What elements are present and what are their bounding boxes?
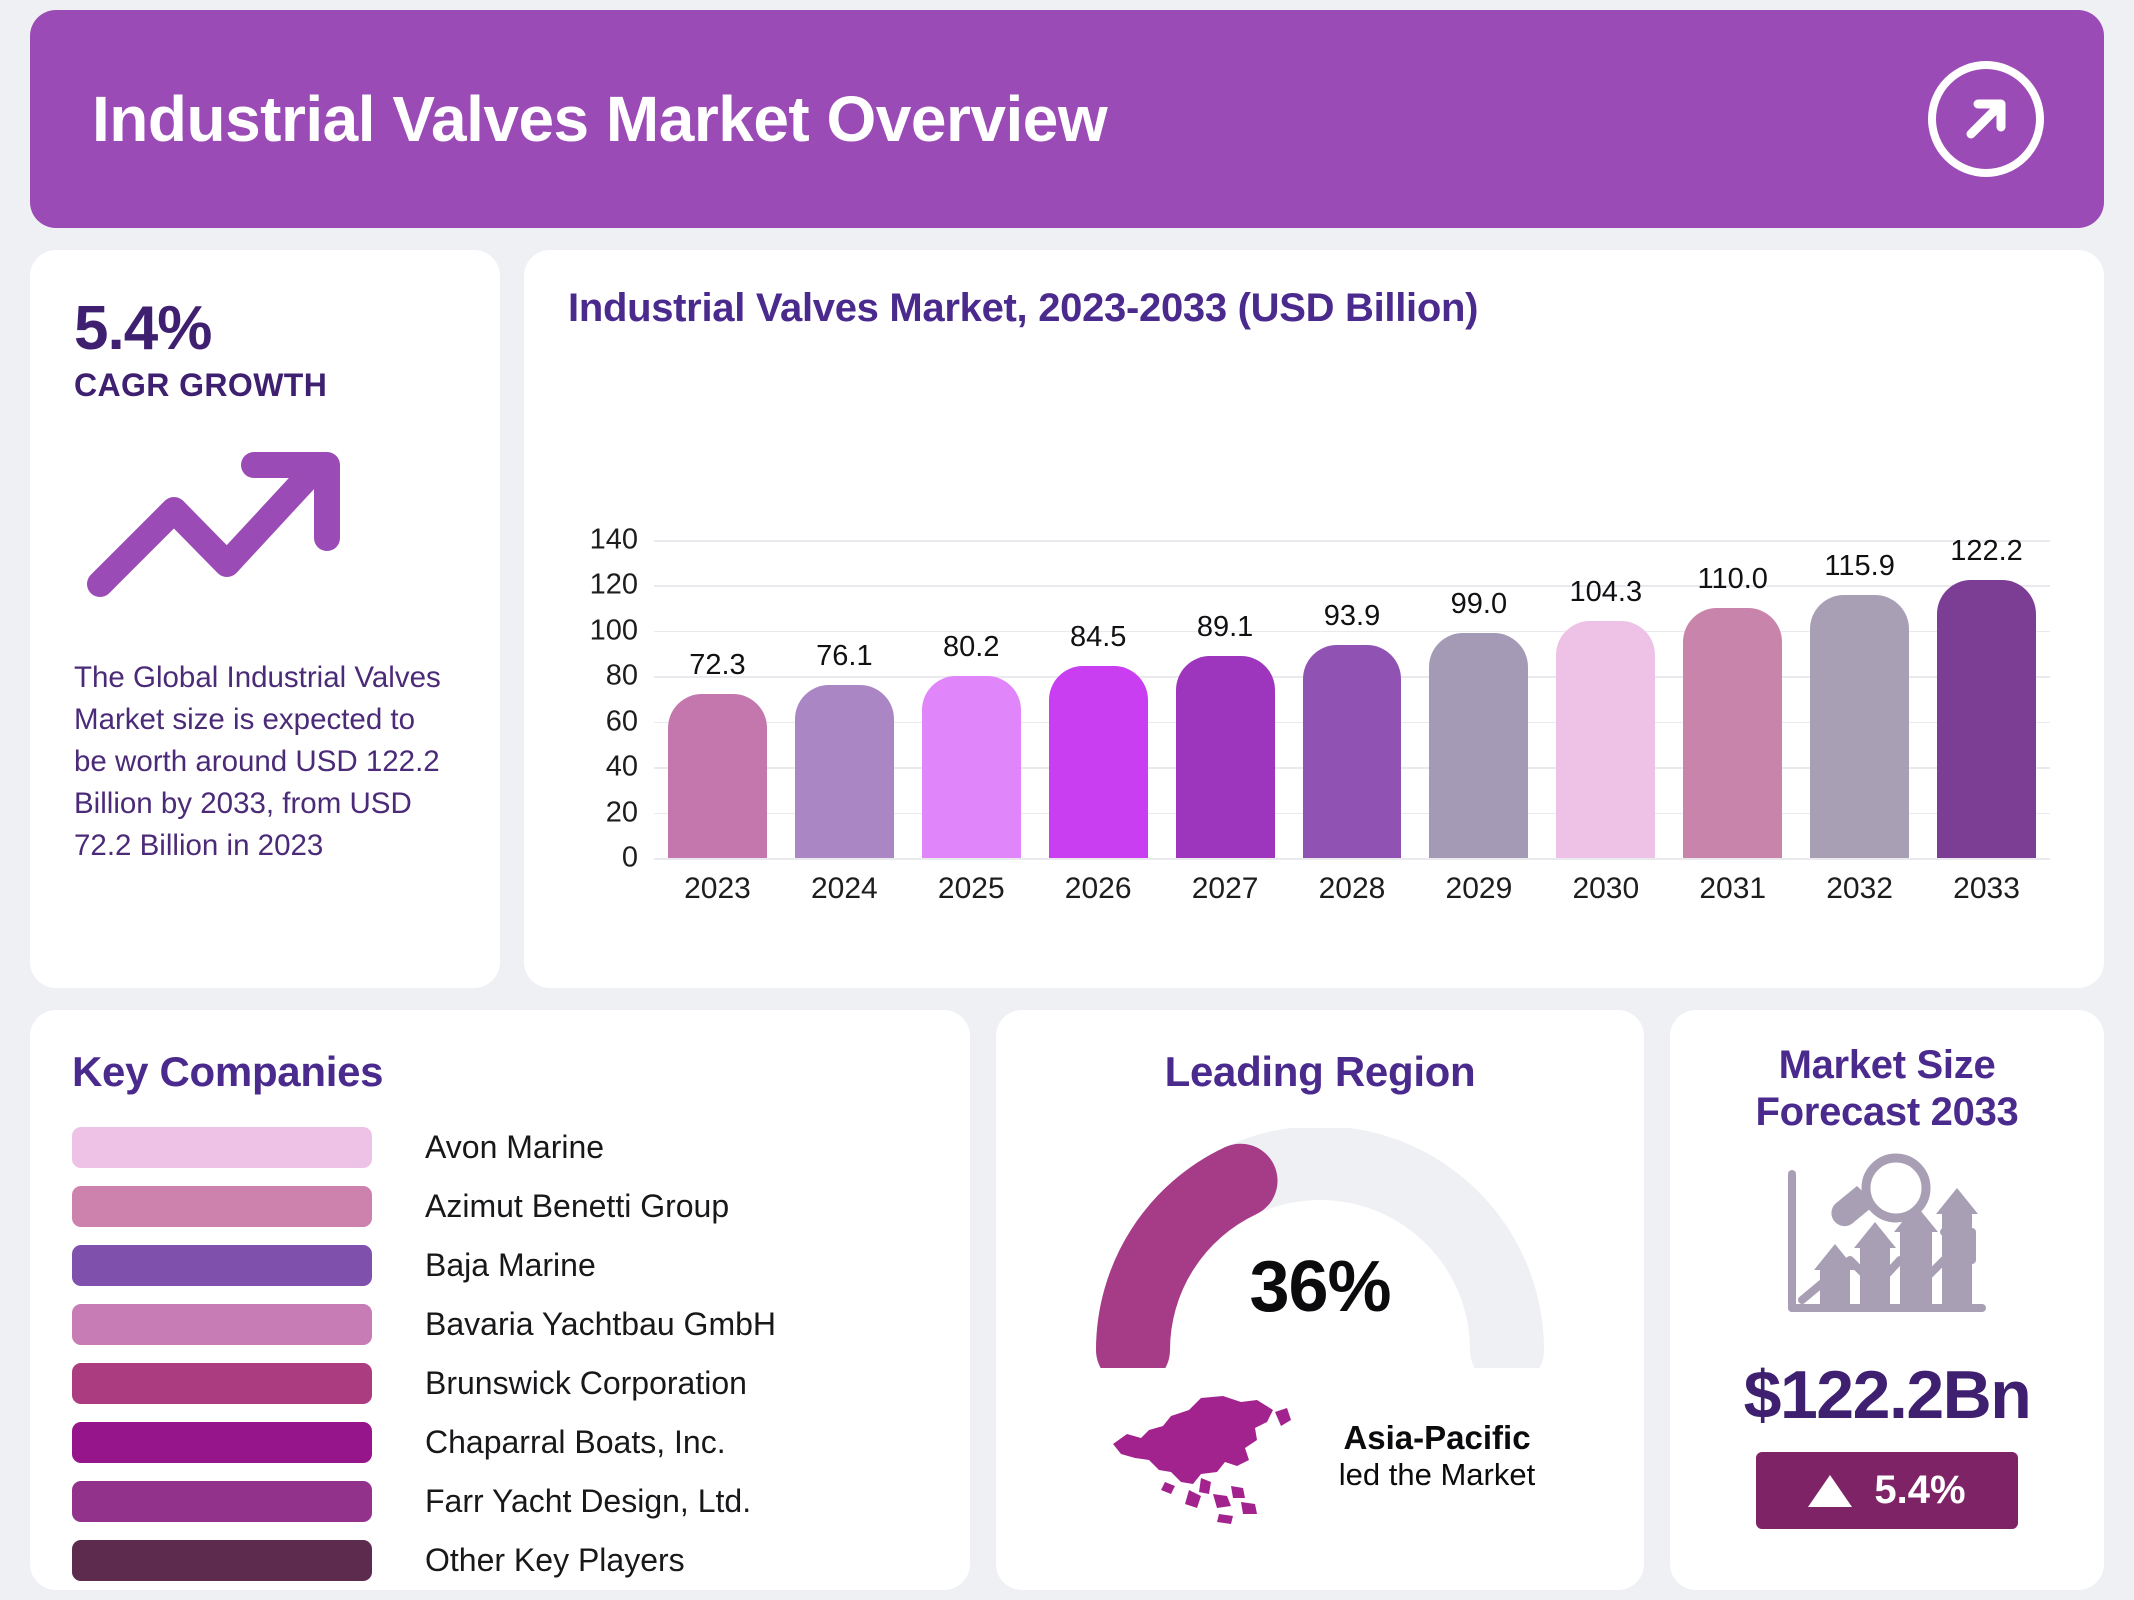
chart-y-tick: 20 [606, 796, 638, 829]
chart-bar[interactable] [1303, 645, 1402, 858]
leading-region-title: Leading Region [996, 1048, 1644, 1096]
chart-bar[interactable] [795, 685, 894, 858]
asia-pacific-map-icon [1105, 1386, 1305, 1526]
chart-bar-value-label: 110.0 [1698, 563, 1768, 596]
key-companies-card: Key Companies Avon MarineAzimut Benetti … [30, 1010, 970, 1590]
company-color-swatch [72, 1186, 372, 1227]
bottom-row: Key Companies Avon MarineAzimut Benetti … [30, 1010, 2104, 1590]
page-title: Industrial Valves Market Overview [92, 82, 1928, 156]
company-name: Other Key Players [425, 1542, 685, 1579]
chart-x-tick: 2031 [1699, 872, 1766, 906]
page-header: Industrial Valves Market Overview [30, 10, 2104, 228]
company-list-item[interactable]: Chaparral Boats, Inc. [72, 1413, 970, 1472]
chart-x-tick: 2032 [1826, 872, 1893, 906]
company-list-item[interactable]: Azimut Benetti Group [72, 1177, 970, 1236]
chart-y-tick: 120 [590, 569, 638, 602]
chart-bar[interactable] [1176, 656, 1275, 858]
company-list-item[interactable]: Avon Marine [72, 1118, 970, 1177]
trending-up-arrow-icon [82, 442, 460, 607]
cagr-value: 5.4% [74, 296, 460, 361]
company-list-item[interactable]: Baja Marine [72, 1236, 970, 1295]
chart-bar-value-label: 80.2 [943, 631, 999, 664]
company-color-swatch [72, 1481, 372, 1522]
chart-bars-container: 02040608010012014072.3202376.1202480.220… [654, 540, 2050, 858]
chart-plot-area: 02040608010012014072.3202376.1202480.220… [568, 410, 2056, 918]
region-subtitle: led the Market [1339, 1457, 1535, 1493]
company-list-item[interactable]: Bavaria Yachtbau GmbH [72, 1295, 970, 1354]
chart-x-tick: 2024 [811, 872, 878, 906]
triangle-up-icon [1808, 1475, 1852, 1507]
company-color-swatch [72, 1363, 372, 1404]
company-name: Farr Yacht Design, Ltd. [425, 1483, 751, 1520]
chart-x-tick: 2030 [1572, 872, 1639, 906]
region-share-percent: 36% [1085, 1246, 1555, 1328]
chart-bar-value-label: 104.3 [1570, 576, 1643, 609]
region-footer: Asia-Pacific led the Market [996, 1386, 1644, 1526]
chart-bar-value-label: 122.2 [1950, 535, 2023, 568]
chart-y-tick: 60 [606, 705, 638, 738]
chart-y-tick: 80 [606, 660, 638, 693]
chart-gridline [654, 585, 2050, 587]
growth-chart-magnifier-icon [1696, 1152, 2078, 1342]
chart-gridline [654, 858, 2050, 860]
key-companies-title: Key Companies [72, 1048, 970, 1096]
region-name-block: Asia-Pacific led the Market [1339, 1419, 1535, 1493]
company-name: Chaparral Boats, Inc. [425, 1424, 726, 1461]
region-name: Asia-Pacific [1339, 1419, 1535, 1457]
forecast-growth-value: 5.4% [1874, 1468, 1965, 1513]
chart-title: Industrial Valves Market, 2023-2033 (USD… [568, 286, 2056, 331]
forecast-title-line2: Forecast 2033 [1696, 1089, 2078, 1136]
chart-y-tick: 140 [590, 524, 638, 557]
chart-x-tick: 2033 [1953, 872, 2020, 906]
chart-y-tick: 0 [622, 842, 638, 875]
company-color-swatch [72, 1422, 372, 1463]
chart-bar[interactable] [922, 676, 1021, 858]
chart-x-tick: 2026 [1065, 872, 1132, 906]
cagr-card: 5.4% CAGR GROWTH The Global Industrial V… [30, 250, 500, 988]
forecast-growth-badge: 5.4% [1756, 1452, 2017, 1529]
chart-x-tick: 2028 [1319, 872, 1386, 906]
chart-gridline [654, 540, 2050, 542]
chart-bar-value-label: 76.1 [816, 640, 872, 673]
chart-bar-value-label: 93.9 [1324, 600, 1380, 633]
region-share-gauge: 36% [1085, 1128, 1555, 1368]
market-chart-card: Industrial Valves Market, 2023-2033 (USD… [524, 250, 2104, 988]
company-list-item[interactable]: Other Key Players [72, 1531, 970, 1590]
leading-region-card: Leading Region 36% [996, 1010, 1644, 1590]
cagr-label: CAGR GROWTH [74, 367, 460, 404]
cagr-description: The Global Industrial Valves Market size… [74, 657, 454, 866]
chart-bar-value-label: 89.1 [1197, 611, 1253, 644]
chart-bar[interactable] [1429, 633, 1528, 858]
chart-bar-value-label: 115.9 [1824, 550, 1894, 583]
forecast-value: $122.2Bn [1696, 1356, 2078, 1434]
chart-bar[interactable] [668, 694, 767, 858]
chart-bar[interactable] [1683, 608, 1782, 858]
chart-bar[interactable] [1810, 595, 1909, 858]
market-size-forecast-card: Market Size Forecast 2033 [1670, 1010, 2104, 1590]
infographic-page: Industrial Valves Market Overview 5.4% C… [0, 0, 2134, 1600]
chart-x-tick: 2023 [684, 872, 751, 906]
company-color-swatch [72, 1245, 372, 1286]
company-color-swatch [72, 1127, 372, 1168]
arrow-up-right-icon [1954, 87, 2018, 151]
company-list-item[interactable]: Brunswick Corporation [72, 1354, 970, 1413]
company-name: Brunswick Corporation [425, 1365, 747, 1402]
forecast-title: Market Size Forecast 2033 [1696, 1042, 2078, 1136]
chart-bar-value-label: 72.3 [689, 649, 745, 682]
company-name: Bavaria Yachtbau GmbH [425, 1306, 776, 1343]
chart-bar-value-label: 99.0 [1451, 588, 1507, 621]
forecast-title-line1: Market Size [1696, 1042, 2078, 1089]
key-companies-list: Avon MarineAzimut Benetti GroupBaja Mari… [72, 1118, 970, 1590]
company-name: Baja Marine [425, 1247, 596, 1284]
chart-bar[interactable] [1556, 621, 1655, 858]
company-color-swatch [72, 1304, 372, 1345]
chart-bar-value-label: 84.5 [1070, 621, 1126, 654]
chart-bar[interactable] [1049, 666, 1148, 858]
company-list-item[interactable]: Farr Yacht Design, Ltd. [72, 1472, 970, 1531]
chart-y-tick: 100 [590, 614, 638, 647]
company-name: Azimut Benetti Group [425, 1188, 729, 1225]
top-row: 5.4% CAGR GROWTH The Global Industrial V… [30, 250, 2104, 988]
chart-x-tick: 2027 [1192, 872, 1259, 906]
arrow-up-right-badge[interactable] [1928, 61, 2044, 177]
company-name: Avon Marine [425, 1129, 604, 1166]
company-color-swatch [72, 1540, 372, 1581]
chart-x-tick: 2029 [1446, 872, 1513, 906]
chart-bar[interactable] [1937, 580, 2036, 858]
chart-x-tick: 2025 [938, 872, 1005, 906]
chart-y-tick: 40 [606, 751, 638, 784]
